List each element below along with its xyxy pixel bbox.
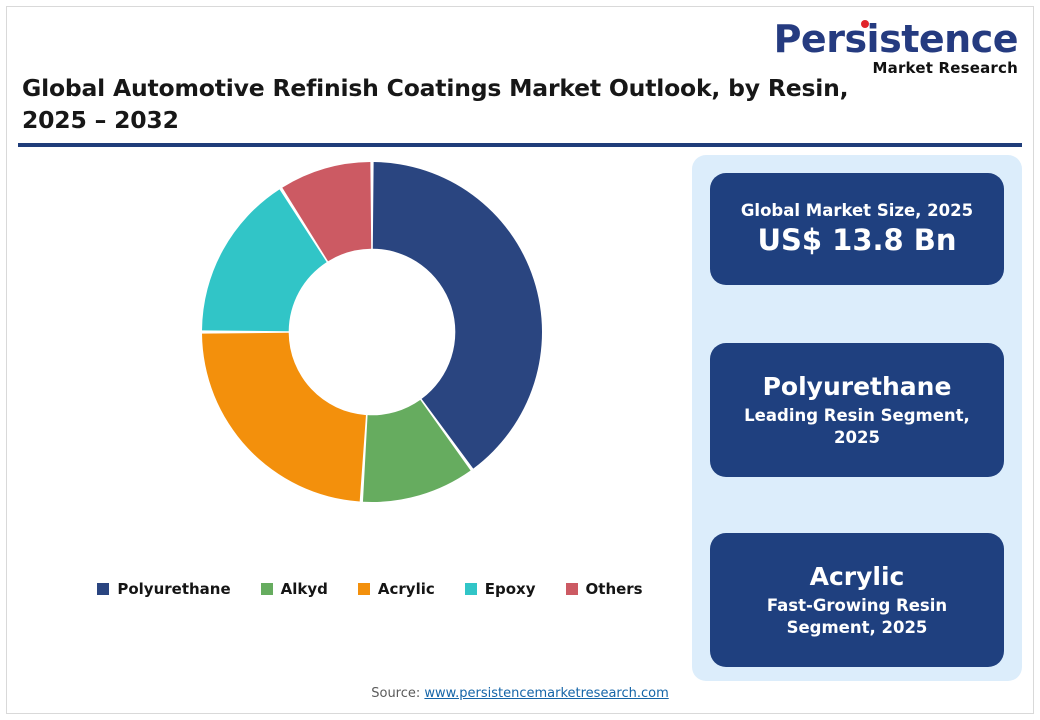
- highlight-card-market-size: Global Market Size, 2025 US$ 13.8 Bn: [710, 173, 1004, 285]
- highlight-card-leading-segment: Polyurethane Leading Resin Segment, 2025: [710, 343, 1004, 477]
- donut-chart: Polyurethane Alkyd Acrylic Epoxy Others: [20, 155, 680, 635]
- legend-swatch-icon: [261, 583, 273, 595]
- page-title: Global Automotive Refinish Coatings Mark…: [22, 72, 902, 137]
- donut-slice-acrylic[interactable]: [202, 333, 366, 502]
- donut-chart-canvas: [200, 160, 544, 504]
- legend-swatch-icon: [358, 583, 370, 595]
- donut-slice-group: [202, 162, 542, 502]
- fastest-segment-heading: Acrylic: [800, 562, 915, 592]
- legend-label: Others: [586, 580, 643, 598]
- brand-logo-dot-icon: [861, 20, 869, 28]
- source-link[interactable]: www.persistencemarketresearch.com: [424, 686, 668, 701]
- brand-logo: Persistence Market Research: [768, 20, 1018, 76]
- highlight-card-fastest-segment: Acrylic Fast-Growing Resin Segment, 2025: [710, 533, 1004, 667]
- market-size-caption: Global Market Size, 2025: [727, 200, 987, 221]
- source-footer: Source: www.persistencemarketresearch.co…: [0, 686, 1040, 701]
- legend-swatch-icon: [97, 583, 109, 595]
- legend-label: Alkyd: [281, 580, 328, 598]
- legend-swatch-icon: [566, 583, 578, 595]
- title-divider: [18, 143, 1022, 147]
- leading-segment-subtitle: Leading Resin Segment, 2025: [710, 405, 1004, 449]
- legend-item-epoxy[interactable]: Epoxy: [465, 580, 536, 598]
- legend-label: Epoxy: [485, 580, 536, 598]
- legend-item-polyurethane[interactable]: Polyurethane: [97, 580, 230, 598]
- fastest-segment-subtitle: Fast-Growing Resin Segment, 2025: [710, 595, 1004, 639]
- legend-item-others[interactable]: Others: [566, 580, 643, 598]
- infographic-page: Persistence Market Research Global Autom…: [0, 0, 1040, 720]
- legend-item-alkyd[interactable]: Alkyd: [261, 580, 328, 598]
- market-size-value: US$ 13.8 Bn: [747, 222, 966, 258]
- donut-chart-svg: [200, 160, 544, 504]
- legend-label: Polyurethane: [117, 580, 230, 598]
- chart-legend: Polyurethane Alkyd Acrylic Epoxy Others: [60, 580, 680, 598]
- leading-segment-heading: Polyurethane: [753, 372, 962, 402]
- legend-item-acrylic[interactable]: Acrylic: [358, 580, 435, 598]
- highlights-panel: Global Market Size, 2025 US$ 13.8 Bn Pol…: [692, 155, 1022, 681]
- legend-label: Acrylic: [378, 580, 435, 598]
- source-label: Source:: [371, 686, 424, 701]
- brand-logo-wordmark: Persistence: [774, 20, 1018, 58]
- legend-swatch-icon: [465, 583, 477, 595]
- brand-logo-text: Persistence: [774, 17, 1018, 61]
